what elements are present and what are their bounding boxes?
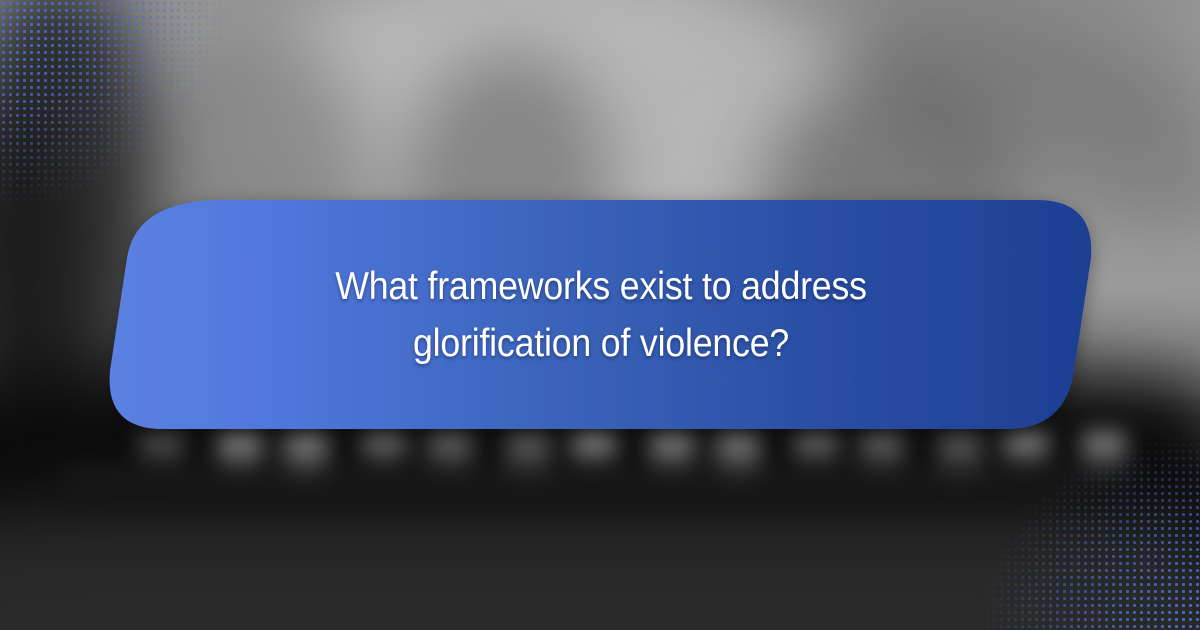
- question-card: What frameworks exist to address glorifi…: [0, 0, 1200, 630]
- question-text-line-2: glorification of violence?: [271, 315, 932, 372]
- screenshot-canvas: What frameworks exist to address glorifi…: [0, 0, 1200, 630]
- question-text-line-1: What frameworks exist to address: [271, 258, 932, 315]
- question-text: What frameworks exist to address glorifi…: [271, 258, 932, 372]
